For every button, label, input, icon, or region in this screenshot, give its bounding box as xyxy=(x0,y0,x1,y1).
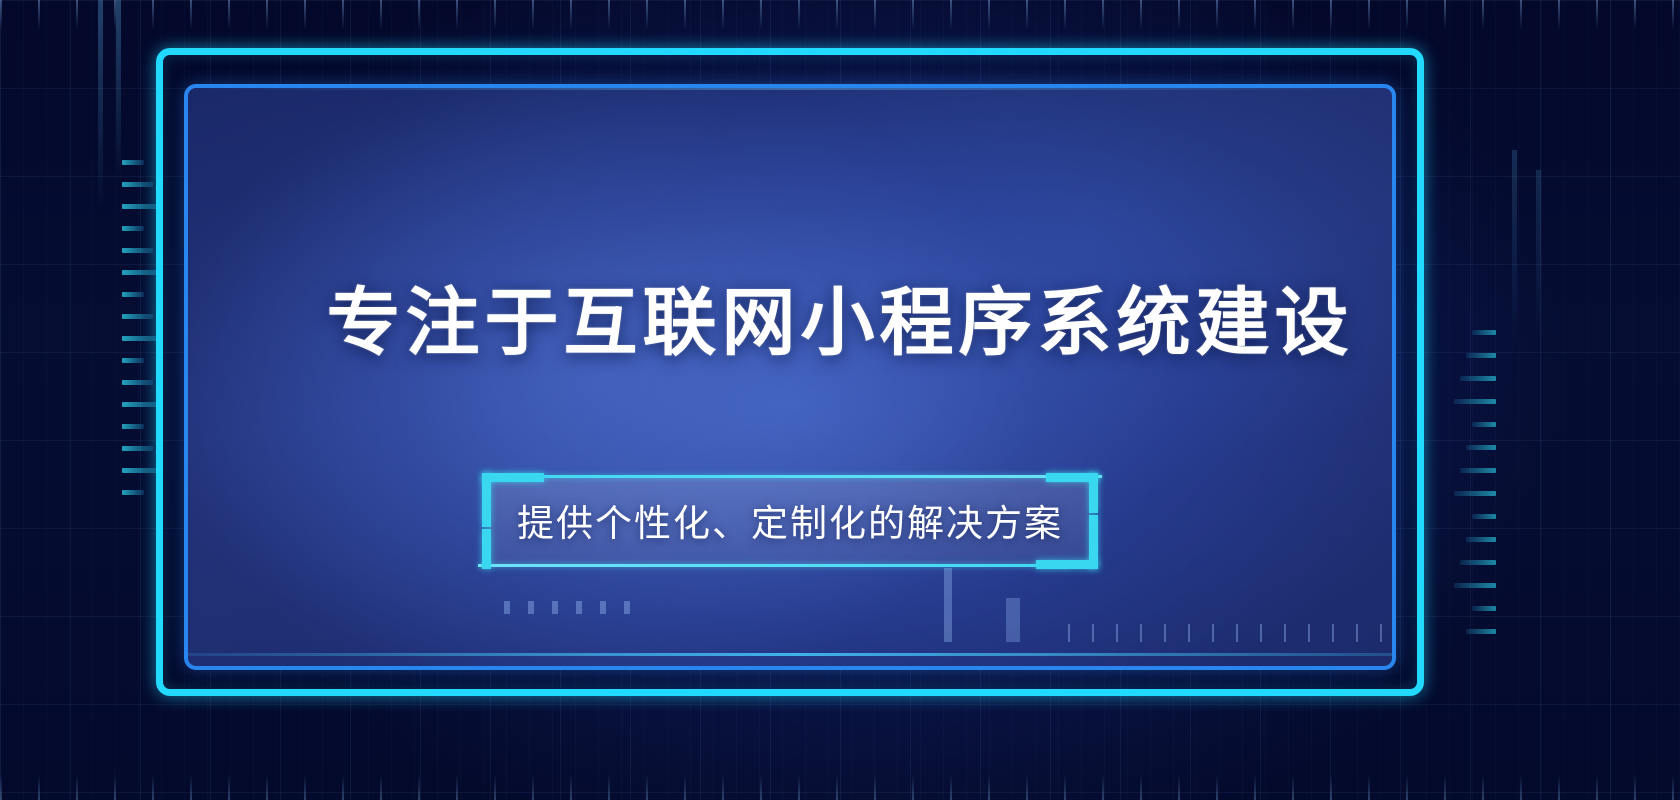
ladder-rung xyxy=(122,446,153,451)
bottom-tick-line xyxy=(1068,624,1396,642)
ladder-rung xyxy=(1460,560,1496,565)
ladder-rung xyxy=(122,160,144,165)
bracket-top-left-icon xyxy=(482,473,544,482)
bottom-tick-ruler xyxy=(0,774,1680,800)
panel-baseline xyxy=(188,653,1392,656)
ladder-rung xyxy=(122,424,144,429)
hero-banner: 专注于互联网小程序系统建设 提供个性化、定制化的解决方案 xyxy=(0,0,1680,800)
bottom-dot-row xyxy=(504,601,630,614)
vertical-streak-icon xyxy=(116,0,121,180)
ladder-rung xyxy=(1454,399,1496,404)
vertical-streak-icon xyxy=(98,0,103,210)
ladder-rung xyxy=(1472,422,1496,427)
bottom-dot xyxy=(624,601,630,614)
ladder-rung xyxy=(122,380,153,385)
bottom-dot xyxy=(504,601,510,614)
bottom-dot xyxy=(528,601,534,614)
page-subtitle: 提供个性化、定制化的解决方案 xyxy=(470,493,1110,547)
bottom-bar-tall xyxy=(944,568,952,642)
bottom-bar-mid xyxy=(1006,598,1020,642)
ladder-rung xyxy=(1454,491,1496,496)
ladder-rung xyxy=(1466,629,1496,634)
ladder-rung xyxy=(1454,583,1496,588)
page-title: 专注于互联网小程序系统建设 xyxy=(0,286,1680,360)
ladder-rung xyxy=(1466,445,1496,450)
ladder-rung xyxy=(1472,514,1496,519)
panel-top-stripe xyxy=(188,88,1392,90)
ladder-rung xyxy=(1472,606,1496,611)
top-tick-ruler xyxy=(0,0,1680,30)
bottom-dot xyxy=(552,601,558,614)
ladder-rung xyxy=(122,248,153,253)
right-ladder-decoration xyxy=(1452,330,1496,660)
ladder-rung xyxy=(122,226,144,231)
inner-panel xyxy=(184,84,1396,670)
ladder-rung xyxy=(1460,468,1496,473)
subtitle-top-rule xyxy=(510,475,1102,478)
ladder-rung xyxy=(122,490,144,495)
ladder-rung xyxy=(1466,537,1496,542)
subtitle-bottom-rule xyxy=(478,564,1070,567)
ladder-rung xyxy=(1460,376,1496,381)
ladder-rung xyxy=(122,182,153,187)
bottom-dot xyxy=(600,601,606,614)
subtitle-bracket-box: 提供个性化、定制化的解决方案 xyxy=(470,465,1110,575)
bottom-dot xyxy=(576,601,582,614)
